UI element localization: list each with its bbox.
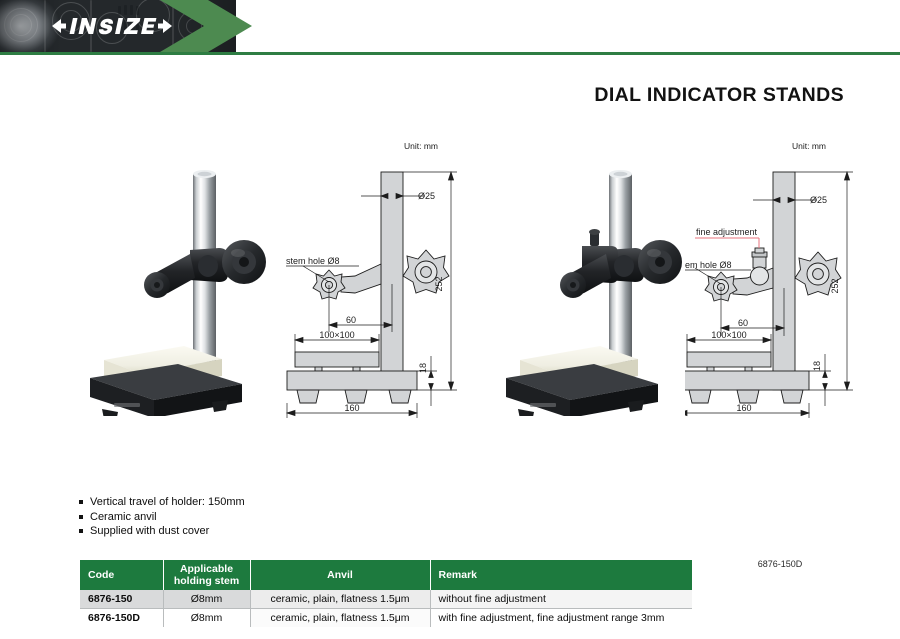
- svg-text:fine adjustment: fine adjustment: [696, 227, 758, 237]
- unit-label-drawing-1: Unit: mm: [404, 141, 438, 151]
- svg-text:stem hole Ø8: stem hole Ø8: [685, 260, 732, 270]
- table-row: 6876-150 Ø8mm ceramic, plain, flatness 1…: [80, 590, 692, 609]
- svg-text:18: 18: [418, 363, 428, 373]
- feature-text: Vertical travel of holder: 150mm: [90, 495, 245, 510]
- unit-label-drawing-2: Unit: mm: [792, 141, 826, 151]
- svg-text:100×100: 100×100: [319, 330, 354, 340]
- cell-anvil: ceramic, plain, flatness 1.5μm: [250, 590, 430, 609]
- feature-item: Supplied with dust cover: [79, 524, 499, 539]
- chevron-accent-icon: [160, 0, 270, 52]
- svg-text:252: 252: [830, 278, 840, 293]
- svg-text:60: 60: [738, 318, 748, 328]
- bullet-square-icon: [79, 529, 83, 533]
- holding-stem-line-1: Applicable: [180, 563, 233, 575]
- feature-item: Vertical travel of holder: 150mm: [79, 495, 499, 510]
- column-header-code: Code: [80, 560, 163, 590]
- cell-code: 6876-150: [80, 590, 163, 609]
- cell-remark: without fine adjustment: [430, 590, 692, 609]
- feature-text: Supplied with dust cover: [90, 524, 209, 539]
- cell-remark: with fine adjustment, fine adjustment ra…: [430, 609, 692, 628]
- svg-text:stem hole Ø8: stem hole Ø8: [286, 256, 340, 266]
- header-divider: [0, 52, 900, 55]
- dimension-drawing-6876-150: Ø25 stem hole Ø8 60 100×100 160 252 18: [285, 156, 475, 426]
- product-photo-6876-150d: [478, 154, 698, 416]
- insize-logo: [52, 13, 172, 39]
- feature-list: Vertical travel of holder: 150mm Ceramic…: [79, 495, 499, 539]
- svg-text:100×100: 100×100: [711, 330, 746, 340]
- column-header-anvil: Anvil: [250, 560, 430, 590]
- figure-caption-4: 6876-150D: [685, 559, 875, 569]
- column-header-holding-stem: Applicable holding stem: [163, 560, 250, 590]
- svg-text:18: 18: [812, 361, 822, 371]
- svg-text:160: 160: [736, 403, 751, 413]
- table-row: 6876-150D Ø8mm ceramic, plain, flatness …: [80, 609, 692, 628]
- holding-stem-line-2: holding stem: [174, 575, 239, 587]
- svg-text:160: 160: [344, 403, 359, 413]
- feature-item: Ceramic anvil: [79, 510, 499, 525]
- feature-text: Ceramic anvil: [90, 510, 157, 525]
- column-header-remark: Remark: [430, 560, 692, 590]
- dimension-drawing-6876-150d: Ø25 fine adjustment stem hole Ø8 60 100×…: [685, 156, 885, 426]
- figure-row: Unit: mm: [0, 132, 900, 444]
- catalog-page: DIAL INDICATOR STANDS: [0, 0, 900, 639]
- cell-code: 6876-150D: [80, 609, 163, 628]
- bullet-square-icon: [79, 515, 83, 519]
- table-header-row: Code Applicable holding stem Anvil Remar…: [80, 560, 692, 590]
- specification-table: Code Applicable holding stem Anvil Remar…: [80, 560, 692, 627]
- cell-anvil: ceramic, plain, flatness 1.5μm: [250, 609, 430, 628]
- svg-text:Ø25: Ø25: [810, 195, 827, 205]
- fine-adjustment-leader: [695, 238, 759, 248]
- svg-text:252: 252: [434, 276, 444, 291]
- cell-stem: Ø8mm: [163, 590, 250, 609]
- product-photo-6876-150: [62, 154, 282, 416]
- page-header: [0, 0, 900, 56]
- bullet-square-icon: [79, 500, 83, 504]
- svg-text:60: 60: [346, 315, 356, 325]
- cell-stem: Ø8mm: [163, 609, 250, 628]
- page-title: DIAL INDICATOR STANDS: [594, 84, 844, 107]
- svg-text:Ø25: Ø25: [418, 191, 435, 201]
